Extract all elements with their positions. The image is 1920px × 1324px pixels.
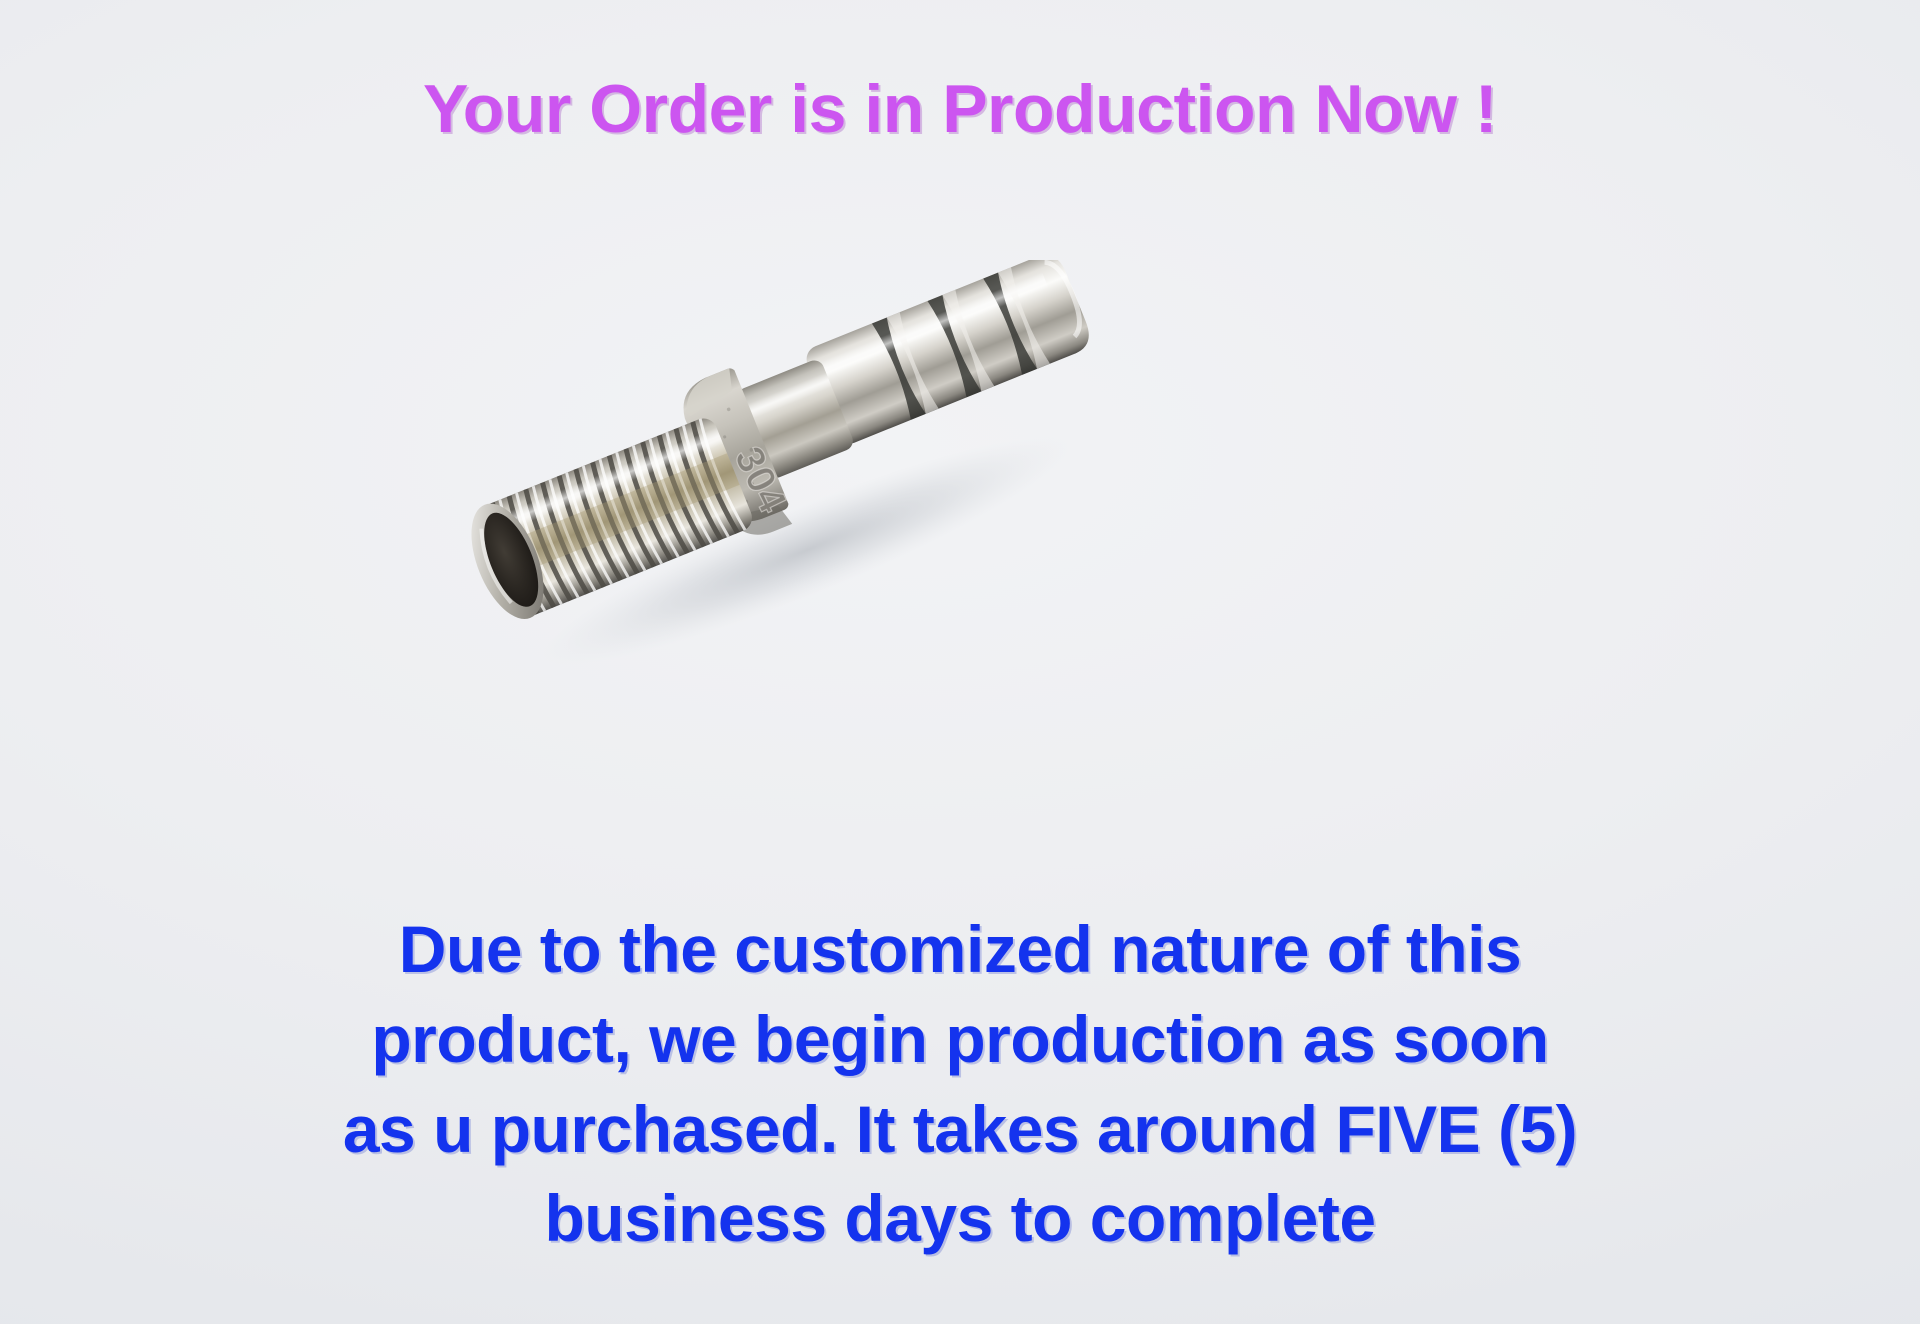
- notice-line-2: product, we begin production as soon: [0, 995, 1920, 1085]
- production-notice: Due to the customized nature of this pro…: [0, 905, 1920, 1264]
- notice-line-4: business days to complete: [0, 1174, 1920, 1264]
- product-photo: 304: [0, 180, 1920, 780]
- notice-line-1: Due to the customized nature of this: [0, 905, 1920, 995]
- barb-section: [802, 260, 1095, 448]
- hose-barb-fitting-illustration: 304: [430, 260, 1250, 740]
- promo-poster: Your Order is in Production Now !: [0, 0, 1920, 1324]
- page-title: Your Order is in Production Now !: [0, 74, 1920, 145]
- notice-line-3: as u purchased. It takes around FIVE (5): [0, 1085, 1920, 1175]
